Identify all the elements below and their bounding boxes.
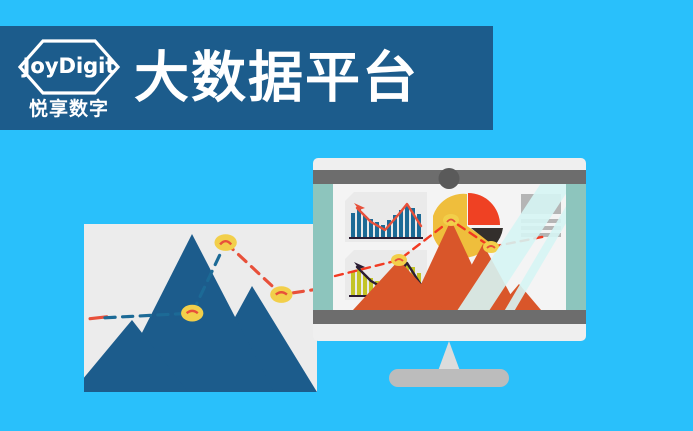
left-mountain-graphic	[84, 224, 317, 392]
monitor-stand-neck	[438, 341, 460, 371]
webcam-icon	[439, 168, 460, 189]
dashboard-canvas	[333, 184, 566, 310]
data-marker	[443, 214, 459, 226]
brand-logo: JoyDigit 悦享数字	[14, 32, 124, 124]
logo-chinese-name: 悦享数字	[29, 100, 109, 119]
data-marker	[391, 254, 407, 266]
monitor-screen	[313, 184, 586, 310]
orange-mountain-chart	[333, 184, 566, 310]
screen-side-strip-right	[566, 184, 586, 310]
data-marker	[483, 241, 499, 253]
screen-side-strip-left	[313, 184, 333, 310]
mountain-chart-panel	[84, 224, 317, 392]
monitor-stand-foot	[389, 369, 509, 387]
page-title: 大数据平台	[134, 51, 419, 106]
monitor-bezel-bottom	[313, 310, 586, 324]
header-band: JoyDigit 悦享数字 大数据平台	[0, 26, 493, 130]
banner-canvas: JoyDigit 悦享数字 大数据平台	[0, 0, 693, 431]
logo-wordmark: JoyDigit	[23, 56, 116, 77]
hexagon-icon: JoyDigit	[17, 38, 121, 96]
